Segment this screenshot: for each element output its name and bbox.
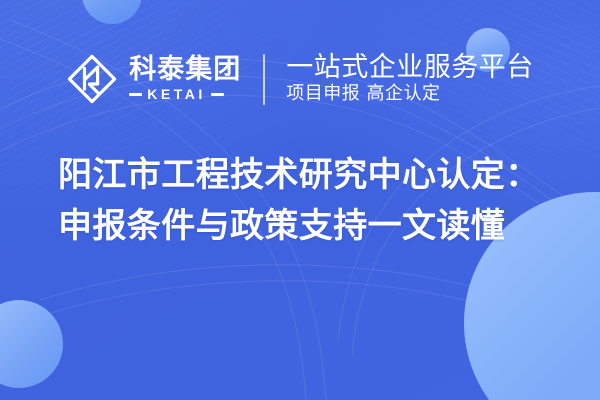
wordmark-rule-right	[211, 93, 224, 96]
brand-name-en-row: KETAI	[129, 86, 241, 102]
header-divider	[263, 54, 265, 105]
ketai-logo-icon	[66, 53, 118, 105]
brand-logo[interactable]: 科泰集团 KETAI	[66, 53, 241, 105]
slogan-secondary: 项目申报 高企认定	[286, 84, 534, 105]
banner-header: 科泰集团 KETAI 一站式企业服务平台 项目申报 高企认定	[0, 46, 600, 112]
promo-banner: 科泰集团 KETAI 一站式企业服务平台 项目申报 高企认定 阳江市工程技术研究…	[0, 0, 600, 400]
brand-name-en: KETAI	[147, 86, 205, 102]
page-title: 阳江市工程技术研究中心认定：申报条件与政策支持一文读懂	[58, 150, 558, 252]
brand-slogan: 一站式企业服务平台 项目申报 高企认定	[286, 53, 534, 105]
slogan-primary: 一站式企业服务平台	[286, 53, 534, 82]
brand-name-cn: 科泰集团	[129, 56, 241, 83]
brand-wordmark: 科泰集团 KETAI	[129, 56, 241, 102]
wordmark-rule-left	[129, 93, 142, 96]
